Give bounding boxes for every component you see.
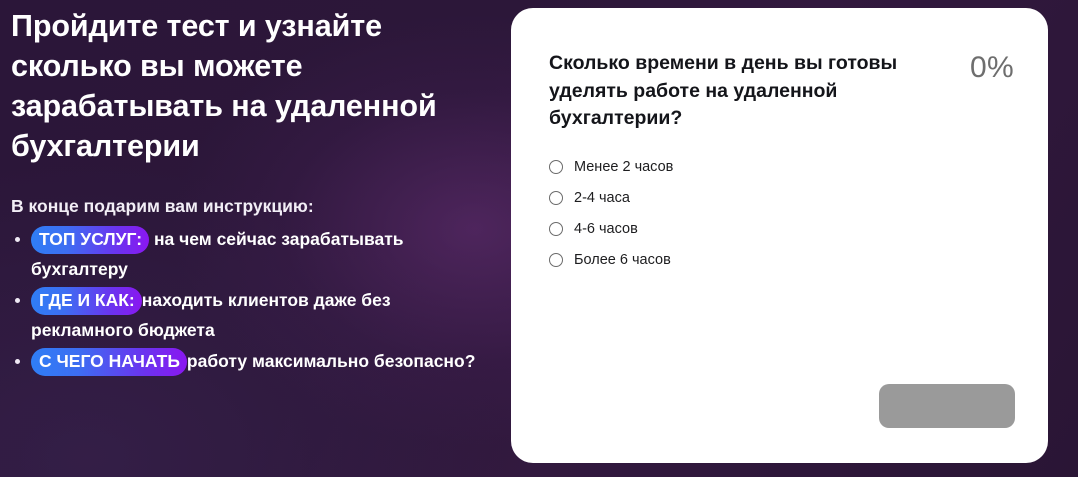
quiz-option-4-6-chasov[interactable]: 4-6 часов <box>549 214 1014 245</box>
quiz-option-label: Менее 2 часов <box>574 158 673 176</box>
quiz-option-label: 4-6 часов <box>574 220 638 238</box>
promo-bullet-list: ТОП УСЛУГ: на чем сейчас зарабатывать бу… <box>11 224 489 376</box>
quiz-card: Сколько времени в день вы готовы уделять… <box>511 8 1048 463</box>
list-item: С ЧЕГО НАЧАТЬработу максимально безопасн… <box>11 346 489 376</box>
quiz-header: Сколько времени в день вы готовы уделять… <box>549 50 1014 133</box>
badge-highlight: ТОП УСЛУГ: <box>31 226 149 254</box>
bullet-dot-icon <box>15 359 20 364</box>
promo-column: Пройдите тест и узнайте сколько вы может… <box>11 6 489 377</box>
promo-subheading: В конце подарим вам инструкцию: <box>11 194 489 218</box>
list-item-text: работу максимально безопасно? <box>187 351 475 371</box>
list-item: ГДЕ И КАК:находить клиентов даже без рек… <box>11 285 489 345</box>
quiz-option-label: 2-4 часа <box>574 189 630 207</box>
radio-button-icon[interactable] <box>549 222 563 236</box>
badge-highlight: С ЧЕГО НАЧАТЬ <box>31 348 187 376</box>
page-title: Пройдите тест и узнайте сколько вы может… <box>11 6 471 166</box>
quiz-progress-percent: 0% <box>970 50 1014 84</box>
bullet-dot-icon <box>15 298 20 303</box>
quiz-option-2-4-chasa[interactable]: 2-4 часа <box>549 183 1014 214</box>
quiz-option-bolee-6-chasov[interactable]: Более 6 часов <box>549 245 1014 276</box>
list-item: ТОП УСЛУГ: на чем сейчас зарабатывать бу… <box>11 224 489 284</box>
quiz-option-menee-2-chasov[interactable]: Менее 2 часов <box>549 152 1014 183</box>
quiz-question-text: Сколько времени в день вы готовы уделять… <box>549 50 921 133</box>
radio-button-icon[interactable] <box>549 160 563 174</box>
quiz-option-label: Более 6 часов <box>574 251 671 269</box>
bullet-dot-icon <box>15 237 20 242</box>
badge-highlight: ГДЕ И КАК: <box>31 287 142 315</box>
radio-button-icon[interactable] <box>549 191 563 205</box>
next-question-button[interactable] <box>879 384 1015 428</box>
quiz-options-list: Менее 2 часов 2-4 часа 4-6 часов Более 6… <box>549 152 1014 276</box>
radio-button-icon[interactable] <box>549 253 563 267</box>
